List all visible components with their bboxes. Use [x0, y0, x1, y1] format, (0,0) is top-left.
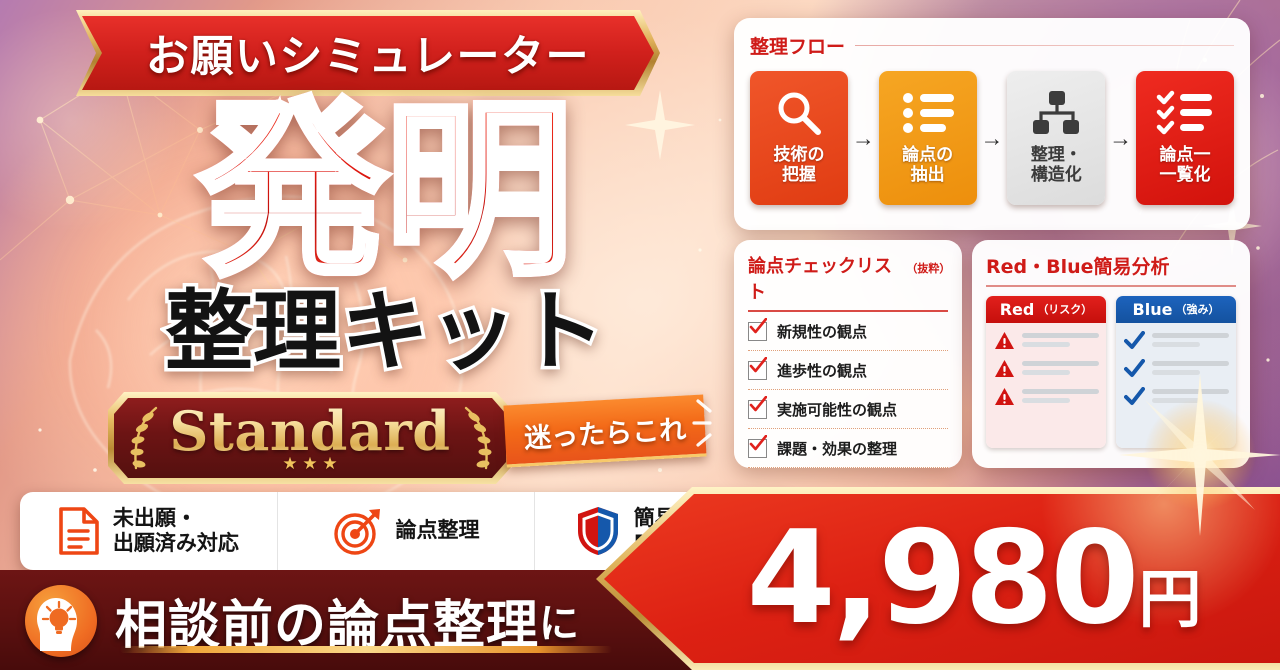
redblue-row	[994, 359, 1099, 378]
redblue-panel-title: Red・Blue簡易分析	[986, 252, 1236, 279]
placeholder-bars	[1152, 389, 1229, 403]
tagline-underline	[120, 646, 612, 653]
warning-triangle-icon	[994, 331, 1015, 350]
price-amount: 4,980	[747, 515, 1137, 643]
checkbox-checked-icon[interactable]	[748, 439, 767, 458]
divider	[986, 285, 1236, 287]
checklist-panel: 論点チェックリスト （抜粋） 新規性の観点 進歩性の観点	[734, 240, 962, 468]
placeholder-bar	[1152, 342, 1200, 347]
placeholder-bar	[1022, 361, 1099, 366]
placeholder-bar	[1152, 398, 1200, 403]
redblue-column-red[interactable]: Red （リスク）	[986, 296, 1106, 448]
placeholder-bar	[1022, 370, 1070, 375]
hierarchy-icon	[1030, 85, 1082, 141]
redblue-row	[1124, 331, 1229, 350]
checklist-item[interactable]: 実施可能性の観点	[748, 390, 948, 429]
recommend-tag-label: 迷ったらこれ	[503, 394, 706, 467]
flow-arrow-2: →	[980, 127, 1003, 150]
check-icon	[1124, 359, 1145, 378]
flow-step-2-label: 論点の抽出	[902, 145, 953, 185]
placeholder-bar	[1152, 389, 1229, 394]
warning-triangle-icon	[994, 359, 1015, 378]
price-currency: 円	[1138, 568, 1201, 631]
price-row: 4,980 円	[604, 494, 1280, 663]
flow-step-1[interactable]: 技術の把握	[750, 71, 848, 205]
redblue-row	[1124, 387, 1229, 406]
flow-step-3[interactable]: 整理・構造化	[1007, 71, 1105, 205]
target-icon	[333, 506, 383, 556]
page-title-primary: 発明	[140, 92, 630, 292]
placeholder-bars	[1152, 361, 1229, 375]
redblue-blue-note: （強み）	[1175, 301, 1219, 317]
flow-panel: 整理フロー 技術の把握 →	[734, 18, 1250, 230]
placeholder-bar	[1022, 342, 1070, 347]
redblue-red-rows	[986, 323, 1106, 448]
checklist-subtitle: （抜粋）	[906, 260, 948, 276]
redblue-panel: Red・Blue簡易分析 Red （リスク）	[972, 240, 1250, 468]
checklist-item-label: 課題・効果の整理	[777, 438, 897, 459]
redblue-red-note: （リスク）	[1037, 301, 1092, 317]
placeholder-bars	[1152, 333, 1229, 347]
flow-step-4-label: 論点一一覧化	[1159, 145, 1210, 185]
placeholder-bar	[1152, 361, 1229, 366]
sparkle-icon	[690, 395, 730, 455]
bullet-list-icon	[900, 85, 956, 141]
feature-item-filing-label: 未出願・出願済み対応	[113, 506, 239, 556]
flow-arrow-1: →	[852, 127, 875, 150]
checklist-icon	[1156, 85, 1214, 141]
checklist-item[interactable]: 新規性の観点	[748, 312, 948, 351]
placeholder-bar	[1152, 370, 1200, 375]
checkbox-checked-icon[interactable]	[748, 361, 767, 380]
promo-banner: お願いシミュレーター 発明 整理キット Standard ★ ★ ★	[0, 0, 1280, 670]
placeholder-bar	[1022, 398, 1070, 403]
head-bulb-icon	[25, 585, 97, 657]
document-icon	[58, 506, 100, 556]
placeholder-bars	[1022, 333, 1099, 347]
placeholder-bar	[1022, 333, 1099, 338]
feature-item-issues[interactable]: 論点整理	[277, 492, 535, 570]
redblue-blue-name: Blue	[1133, 300, 1173, 319]
placeholder-bars	[1022, 361, 1099, 375]
checklist-item-label: 実施可能性の観点	[777, 399, 897, 420]
flow-step-4[interactable]: 論点一一覧化	[1136, 71, 1234, 205]
checklist-item-label: 進歩性の観点	[777, 360, 867, 381]
checklist-item[interactable]: 課題・効果の整理	[748, 429, 948, 468]
flow-panel-title: 整理フロー	[750, 32, 845, 59]
divider	[855, 45, 1234, 46]
check-icon	[1124, 331, 1145, 350]
redblue-red-caption: Red （リスク）	[986, 296, 1106, 323]
placeholder-bars	[1022, 389, 1099, 403]
flow-step-2[interactable]: 論点の抽出	[879, 71, 977, 205]
redblue-columns: Red （リスク）	[986, 296, 1236, 448]
redblue-blue-rows	[1116, 323, 1236, 448]
check-icon	[1124, 387, 1145, 406]
checklist-header: 論点チェックリスト （抜粋）	[748, 252, 948, 304]
checklist-title: 論点チェックリスト	[748, 252, 901, 304]
checklist-item[interactable]: 進歩性の観点	[748, 351, 948, 390]
redblue-blue-caption: Blue （強み）	[1116, 296, 1236, 323]
grade-badge-stars: ★ ★ ★	[114, 452, 506, 474]
flow-step-1-label: 技術の把握	[774, 145, 825, 185]
redblue-row	[994, 387, 1099, 406]
page-title-secondary: 整理キット	[120, 283, 650, 381]
checklist-item-label: 新規性の観点	[777, 321, 867, 342]
placeholder-bar	[1022, 389, 1099, 394]
ribbon-label: お願いシミュレーター	[82, 16, 654, 90]
feature-item-issues-label: 論点整理	[396, 518, 480, 543]
flow-panel-header: 整理フロー	[750, 32, 1234, 59]
redblue-red-name: Red	[1000, 300, 1035, 319]
magnifier-icon	[774, 85, 824, 141]
checkbox-checked-icon[interactable]	[748, 322, 767, 341]
redblue-row	[994, 331, 1099, 350]
warning-triangle-icon	[994, 387, 1015, 406]
flow-steps: 技術の把握 → 論点の抽出 →	[750, 71, 1234, 205]
feature-item-filing[interactable]: 未出願・出願済み対応	[20, 492, 277, 570]
redblue-column-blue[interactable]: Blue （強み）	[1116, 296, 1236, 448]
flow-step-3-label: 整理・構造化	[1031, 145, 1082, 185]
placeholder-bar	[1152, 333, 1229, 338]
flow-arrow-3: →	[1109, 127, 1132, 150]
bottom-tagline-tail: に	[539, 591, 580, 649]
redblue-row	[1124, 359, 1229, 378]
checkbox-checked-icon[interactable]	[748, 400, 767, 419]
